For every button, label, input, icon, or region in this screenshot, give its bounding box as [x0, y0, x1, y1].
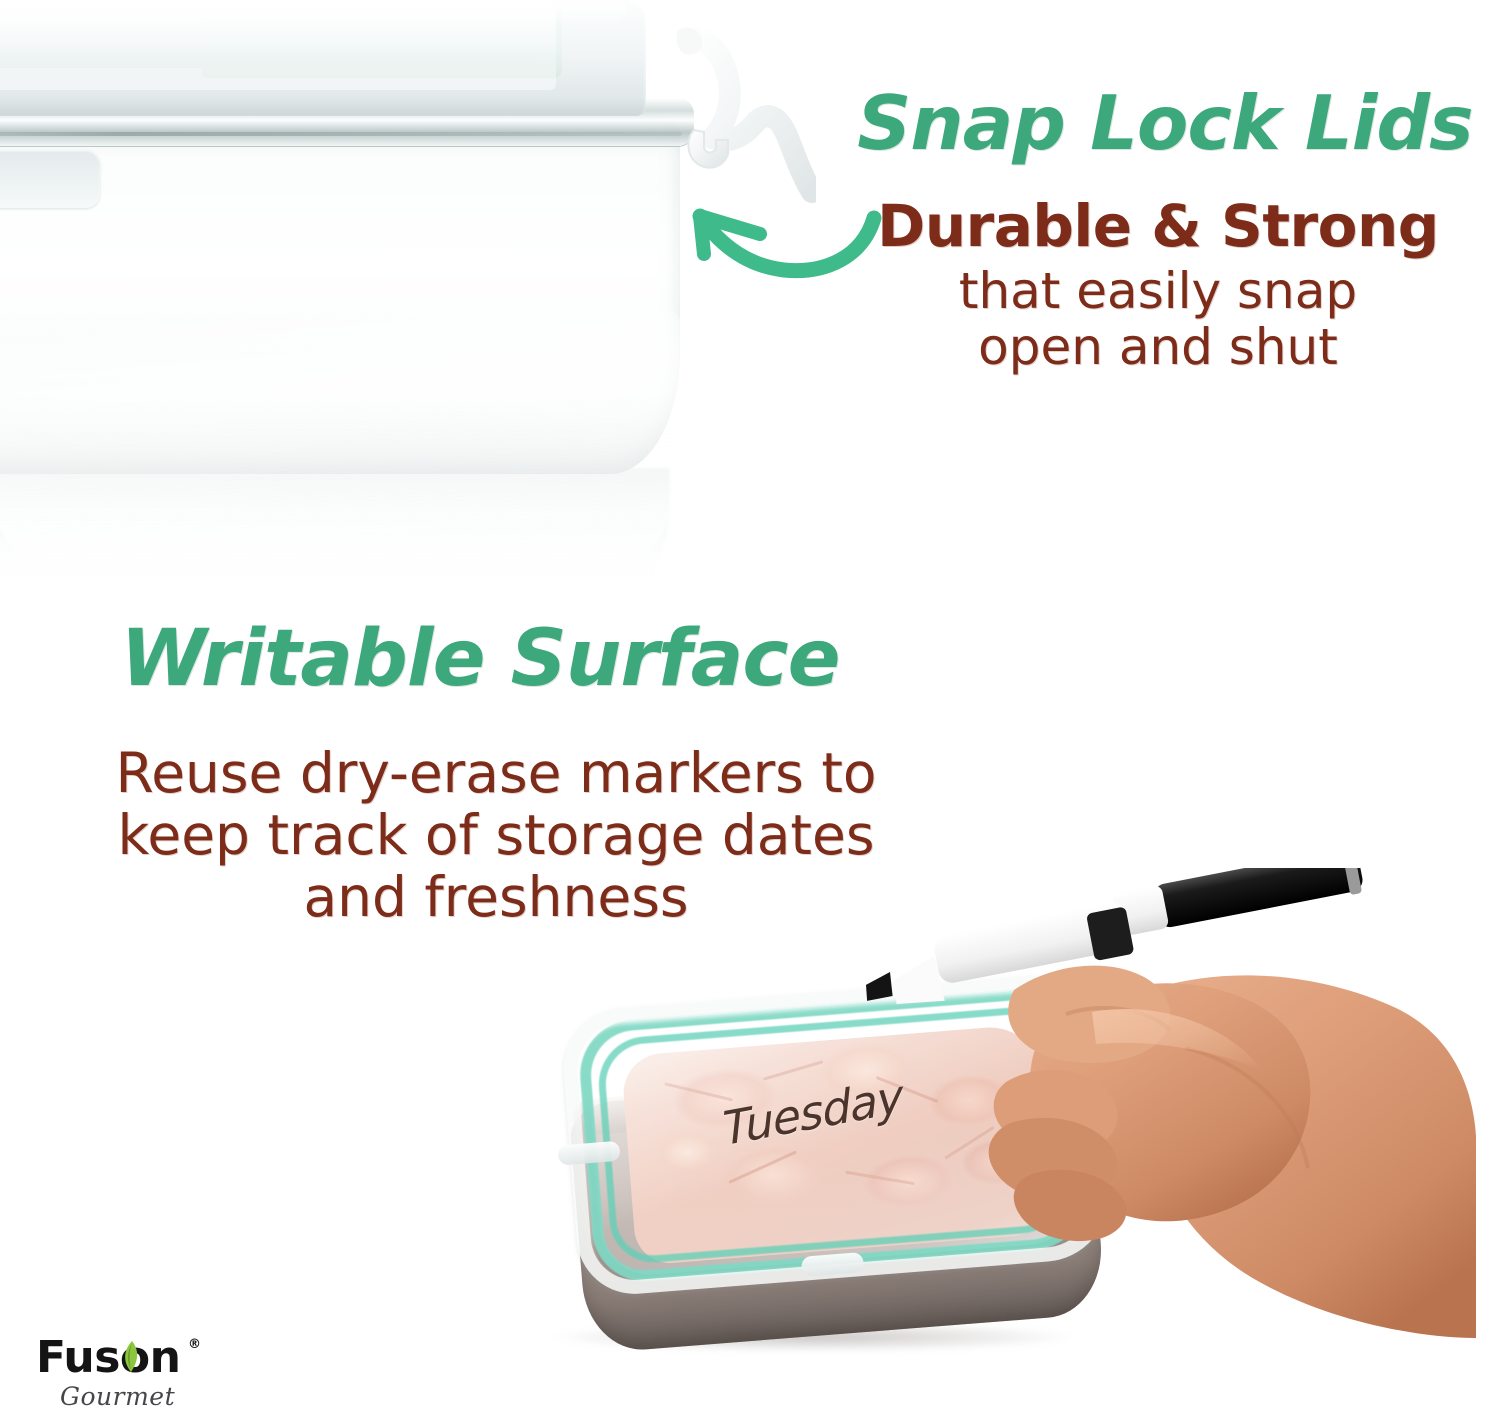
- glass-rim-highlight: [0, 132, 682, 136]
- lid-top-highlight: [0, 0, 626, 22]
- glass-inner-wall: [0, 310, 680, 560]
- feature-subcopy-block-snap-lock: Durable & Strong that easily snap open a…: [838, 196, 1478, 375]
- feature-body-snap-lock: that easily snap open and shut: [838, 263, 1478, 375]
- feature-body-line: keep track of storage dates: [26, 804, 966, 866]
- brand-wordmark-part1: Fus: [36, 1332, 120, 1383]
- feature-body-line: Reuse dry-erase markers to: [26, 742, 966, 804]
- hero-product-photo-glass-container: [0, 0, 710, 604]
- feature-body-line: open and shut: [838, 319, 1478, 375]
- feature-body-line: and freshness: [26, 866, 966, 928]
- glass-container-body: [0, 114, 680, 474]
- registered-trademark-symbol: ®: [188, 1338, 201, 1351]
- brand-wordmark: Fuson ®: [36, 1336, 180, 1380]
- snap-lock-clip-latch: [676, 26, 816, 206]
- feature-subheading-durable-strong: Durable & Strong: [838, 196, 1478, 257]
- lid-side-locking-tab: [0, 150, 100, 208]
- feature-headline-writable-surface: Writable Surface: [60, 620, 900, 698]
- leaf-icon: [120, 1338, 140, 1372]
- feature-body-line: that easily snap: [838, 263, 1478, 319]
- feature-body-writable-surface: Reuse dry-erase markers to keep track of…: [26, 742, 966, 928]
- brand-tagline: Gourmet: [60, 1382, 256, 1411]
- hand-holding-dry-erase-marker: [856, 868, 1476, 1378]
- writable-surface-demo-photo: Tuesday: [520, 930, 1480, 1380]
- feature-headline-snap-lock-lids: Snap Lock Lids: [845, 86, 1485, 161]
- brand-logo-fusion-gourmet: Fuson ® Gourmet: [36, 1336, 256, 1414]
